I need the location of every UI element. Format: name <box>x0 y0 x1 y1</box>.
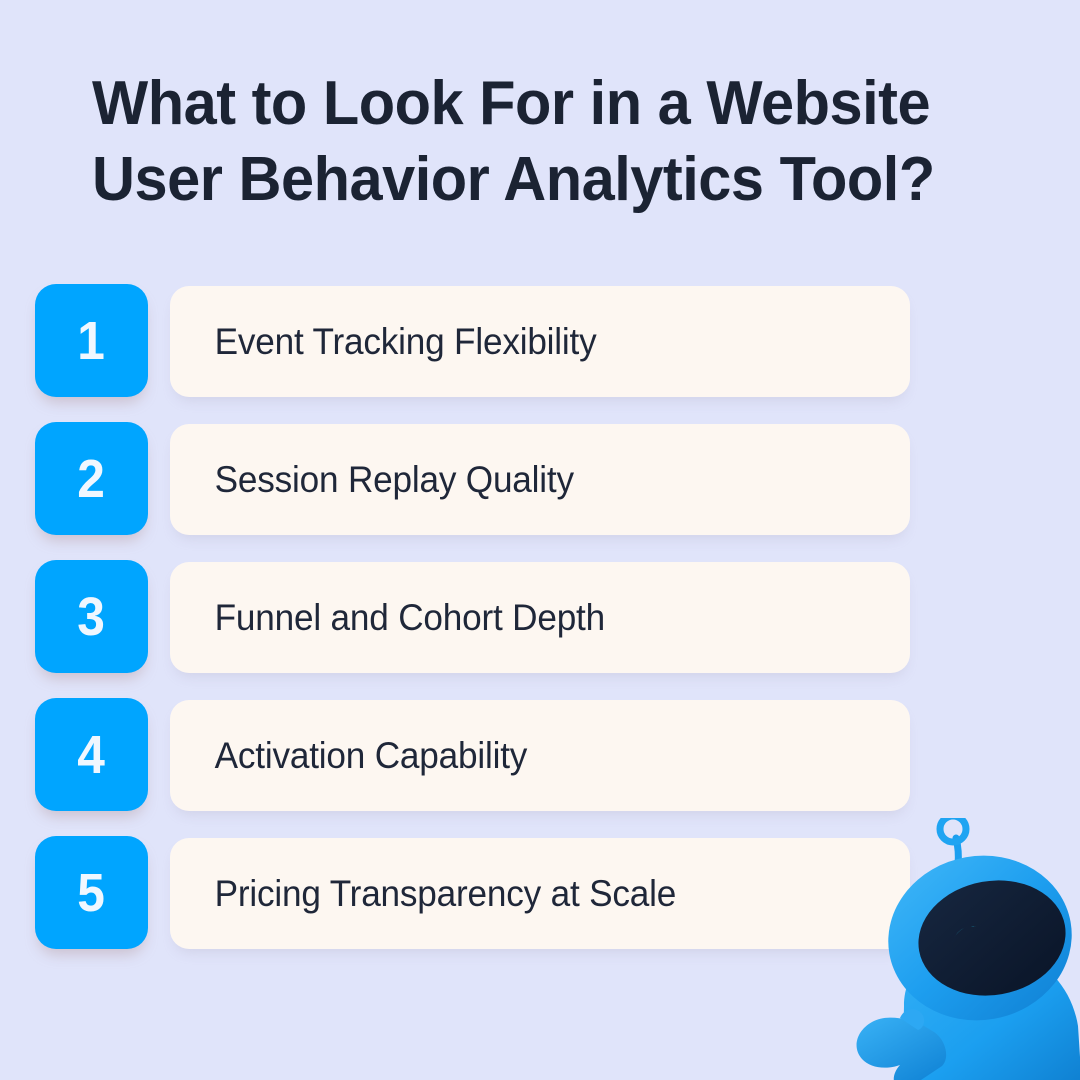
page-title-line-1: What to Look For in a Website <box>92 66 966 142</box>
list-item-number: 5 <box>78 866 106 920</box>
list-item-number: 1 <box>78 314 106 368</box>
list-item[interactable]: 5 Pricing Transparency at Scale <box>35 836 1045 949</box>
list-item-number-badge: 3 <box>35 560 148 673</box>
list-item-number: 2 <box>78 452 106 506</box>
checklist: 1 Event Tracking Flexibility 2 Session R… <box>35 284 1045 949</box>
list-item-card[interactable]: Pricing Transparency at Scale <box>170 838 910 949</box>
list-item-label: Pricing Transparency at Scale <box>170 873 676 915</box>
robot-body <box>902 944 1080 1080</box>
list-item[interactable]: 2 Session Replay Quality <box>35 422 1045 535</box>
list-item-card[interactable]: Event Tracking Flexibility <box>170 286 910 397</box>
list-item-card[interactable]: Activation Capability <box>170 700 910 811</box>
list-item-number: 4 <box>78 728 106 782</box>
list-item-card[interactable]: Funnel and Cohort Depth <box>170 562 910 673</box>
list-item-number-badge: 5 <box>35 836 148 949</box>
list-item-number-badge: 2 <box>35 422 148 535</box>
list-item-label: Funnel and Cohort Depth <box>170 597 605 639</box>
list-item-card[interactable]: Session Replay Quality <box>170 424 910 535</box>
robot-waving-hand <box>857 1018 947 1080</box>
list-item-label: Session Replay Quality <box>170 459 574 501</box>
list-item-label: Event Tracking Flexibility <box>170 321 597 363</box>
page-title-line-2: User Behavior Analytics Tool? <box>92 142 966 218</box>
robot-thumb <box>900 1009 924 1030</box>
list-item[interactable]: 3 Funnel and Cohort Depth <box>35 560 1045 673</box>
page-title: What to Look For in a Website User Behav… <box>92 66 1002 217</box>
list-item-number-badge: 1 <box>35 284 148 397</box>
page-title-text: What to Look For in a Website User Behav… <box>92 66 966 217</box>
list-item-label: Activation Capability <box>170 735 527 777</box>
list-item[interactable]: 1 Event Tracking Flexibility <box>35 284 1045 397</box>
list-item-number-badge: 4 <box>35 698 148 811</box>
list-item-number: 3 <box>78 590 106 644</box>
list-item[interactable]: 4 Activation Capability <box>35 698 1045 811</box>
